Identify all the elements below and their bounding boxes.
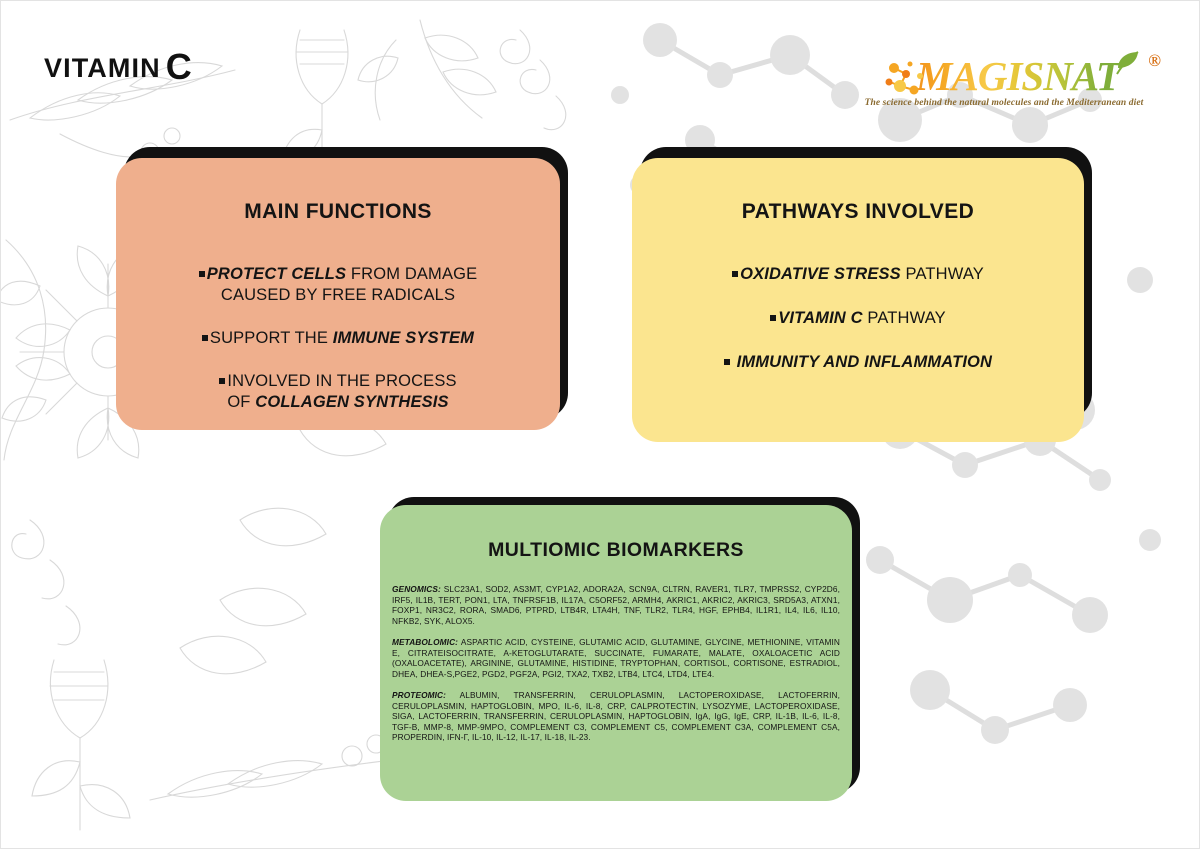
card-functions-bullet-list: PROTECT CELLS FROM DAMAGE CAUSED BY FREE…: [116, 264, 560, 413]
pathway-1-rest: PATHWAY: [901, 265, 984, 283]
list-item: IMMUNITY AND INFLAMMATION: [632, 352, 1084, 373]
omic-label-metabolomic: METABOLOMIC:: [392, 637, 458, 647]
card-biomarkers-title: MULTIOMIC BIOMARKERS: [380, 539, 852, 562]
omic-items-metabolomic: ASPARTIC ACID, CYSTEINE, GLUTAMIC ACID, …: [392, 637, 840, 679]
card-main-functions: MAIN FUNCTIONS PROTECT CELLS FROM DAMAGE…: [116, 158, 560, 430]
list-item: INVOLVED IN THE PROCESS OF COLLAGEN SYNT…: [116, 371, 560, 413]
list-item: VITAMIN C PATHWAY: [632, 308, 1084, 329]
pathway-1-strong: OXIDATIVE STRESS: [740, 265, 901, 283]
bullet-3-line2-pre: OF: [227, 393, 255, 411]
omics-list: GENOMICS: SLC23A1, SOD2, AS3MT, CYP1A2, …: [380, 584, 852, 743]
card-multiomic-biomarkers: MULTIOMIC BIOMARKERS GENOMICS: SLC23A1, …: [380, 505, 852, 801]
bullet-3-pre: INVOLVED IN THE PROCESS: [227, 372, 456, 390]
omic-block-metabolomic: METABOLOMIC: ASPARTIC ACID, CYSTEINE, GL…: [392, 637, 840, 679]
bullet-square-icon: [219, 378, 225, 384]
omic-block-proteomic: PROTEOMIC: ALBUMIN, TRANSFERRIN, CERULOP…: [392, 690, 840, 743]
bullet-square-icon: [202, 335, 208, 341]
brand-wordmark-container: MAGISNAT ®: [888, 56, 1120, 97]
omic-label-proteomic: PROTEOMIC:: [392, 690, 446, 700]
card-pathways-bullet-list: OXIDATIVE STRESS PATHWAY VITAMIN C PATHW…: [632, 264, 1084, 373]
card-functions-title: MAIN FUNCTIONS: [116, 200, 560, 224]
pathway-2-rest: PATHWAY: [863, 309, 946, 327]
bullet-2-pre: SUPPORT THE: [210, 329, 333, 347]
card-pathways-title: PATHWAYS INVOLVED: [632, 200, 1084, 224]
bullet-1-lead: PROTECT CELLS: [207, 265, 346, 283]
brand-name: MAGISNAT: [916, 53, 1120, 99]
bullet-square-icon: [199, 271, 205, 277]
bullet-3-line2-strong: COLLAGEN SYNTHESIS: [255, 393, 448, 411]
bullet-1-rest: FROM DAMAGE: [346, 265, 477, 283]
bullet-2-strong: IMMUNE SYSTEM: [333, 329, 474, 347]
registered-trademark-icon: ®: [1148, 52, 1160, 69]
bullet-square-icon: [724, 359, 730, 365]
molecule-dots-icon: [884, 60, 930, 100]
omic-block-genomics: GENOMICS: SLC23A1, SOD2, AS3MT, CYP1A2, …: [392, 584, 840, 626]
bullet-1-line2: CAUSED BY FREE RADICALS: [221, 286, 455, 304]
pathway-2-strong: VITAMIN C: [778, 309, 862, 327]
omic-items-genomics: SLC23A1, SOD2, AS3MT, CYP1A2, ADORA2A, S…: [392, 584, 840, 626]
page-title-word: VITAMIN: [44, 53, 161, 83]
brand-logo: MAGISNAT ® The science behind the natura…: [844, 56, 1164, 118]
leaf-icon: [1114, 50, 1140, 76]
list-item: PROTECT CELLS FROM DAMAGE CAUSED BY FREE…: [116, 264, 560, 306]
page-title-letter: C: [166, 46, 192, 87]
bullet-square-icon: [732, 271, 738, 277]
list-item: SUPPORT THE IMMUNE SYSTEM: [116, 328, 560, 349]
pathway-3-strong: IMMUNITY AND INFLAMMATION: [737, 353, 993, 371]
omic-items-proteomic: ALBUMIN, TRANSFERRIN, CERULOPLASMIN, LAC…: [392, 690, 840, 742]
card-pathways-involved: PATHWAYS INVOLVED OXIDATIVE STRESS PATHW…: [632, 158, 1084, 442]
bullet-square-icon: [770, 315, 776, 321]
page-title: VITAMINC: [44, 46, 192, 88]
omic-label-genomics: GENOMICS:: [392, 584, 441, 594]
list-item: OXIDATIVE STRESS PATHWAY: [632, 264, 1084, 285]
